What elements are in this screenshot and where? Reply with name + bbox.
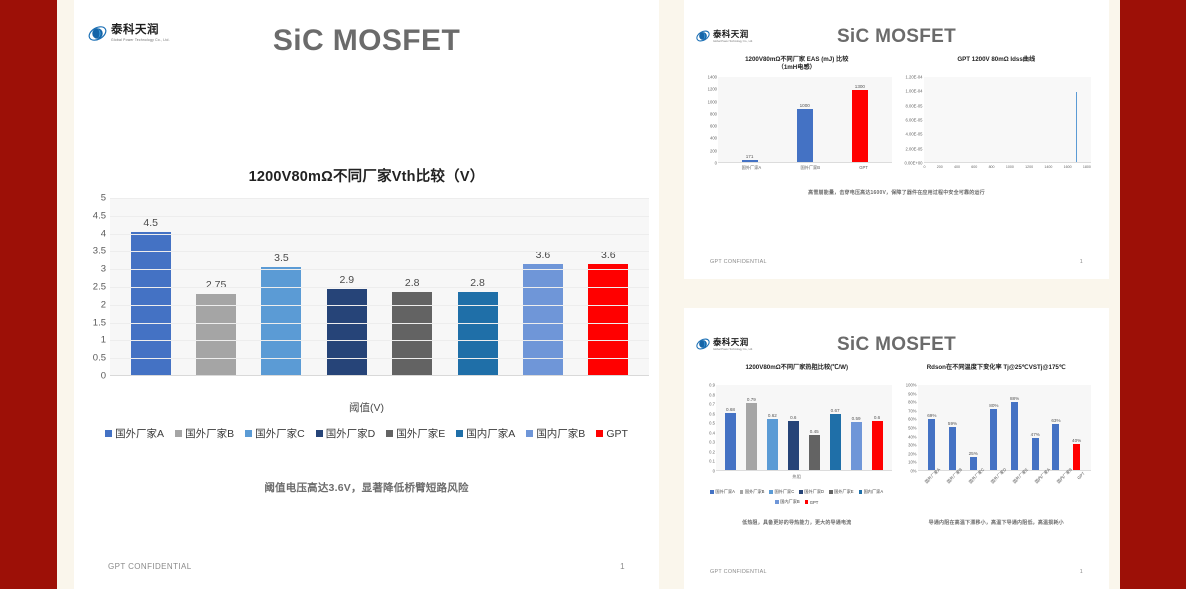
bar <box>1052 424 1059 470</box>
legend-item: 国内厂家B <box>526 426 585 441</box>
gridline <box>110 305 649 306</box>
footer-page-number: 1 <box>1080 569 1083 575</box>
y-axis-tick: 100% <box>906 383 917 388</box>
y-axis: 1400120010008006004002000 <box>702 77 717 163</box>
chart-title: Rdson在不同温度下变化率 Tj@25℃VSTj@175℃ <box>902 364 1092 381</box>
legend-item: 国外厂家D <box>799 489 824 495</box>
y-axis-tick: 0.7 <box>709 402 715 407</box>
legend-label: 国外厂家E <box>396 426 445 441</box>
bar-item: 1000 <box>792 77 818 162</box>
slide-title: SiC MOSFET <box>684 334 1109 356</box>
bar-item: 63% <box>1047 385 1065 470</box>
y-axis-tick: 2.00E-05 <box>906 146 923 151</box>
slide-footer: GPT CONFIDENTIAL 1 <box>684 259 1109 265</box>
y-axis-tick: 2 <box>101 299 106 310</box>
legend-label: 国内厂家A <box>864 489 884 495</box>
bar-item: 59% <box>944 385 962 470</box>
bar <box>196 294 236 375</box>
y-axis-tick: 10% <box>908 460 916 465</box>
bar-item: 69% <box>923 385 941 470</box>
legend-swatch <box>859 490 863 494</box>
legend-swatch <box>456 430 463 437</box>
slide-footer: GPT CONFIDENTIAL 1 <box>74 562 659 571</box>
legend-label: GPT <box>810 500 819 505</box>
chart-title: GPT 1200V 80mΩ Idss曲线 <box>902 56 1092 73</box>
legend-swatch <box>710 490 714 494</box>
bar <box>949 427 956 470</box>
y-axis-tick: 0 <box>713 469 715 474</box>
x-axis-label: 阈值(V) <box>74 400 659 415</box>
bar <box>327 289 367 375</box>
gridline <box>110 198 649 199</box>
footer-confidential: GPT CONFIDENTIAL <box>108 562 192 571</box>
bar-item: 0.62 <box>764 385 780 470</box>
y-axis-tick: 0.6 <box>709 411 715 416</box>
bar-item: 0.67 <box>827 385 843 470</box>
slide-caption: 阈值电压高达3.6V，显著降低桥臂短路风险 <box>74 480 659 495</box>
x-axis-tick: 400 <box>954 165 960 169</box>
slide-caption: 高雪崩能量，击穿电压高达1600V，保障了器件在应用过程中安全可靠的运行 <box>684 189 1109 196</box>
slide-thumbnail-2[interactable]: 泰科天润 Global Power Technology Co., Ltd. S… <box>684 308 1109 589</box>
y-axis-tick: 200 <box>710 148 717 153</box>
x-axis-tick: 800 <box>989 165 995 169</box>
y-axis-tick: 0.3 <box>709 440 715 445</box>
y-axis-tick: 0.9 <box>709 383 715 388</box>
gridline <box>110 234 649 235</box>
bar-value-label: 0.68 <box>726 407 735 412</box>
bar-value-label: 69% <box>927 413 936 418</box>
bar <box>797 109 813 162</box>
bar-value-label: 3.5 <box>274 252 289 264</box>
chart-column-right: GPT 1200V 80mΩ Idss曲线 1.20E-041.00E-048.… <box>902 56 1092 171</box>
gridline <box>110 358 649 359</box>
chart-column-left: 1200V80mΩ不同厂家 EAS (mJ) 比较 （1mH电感） 140012… <box>702 56 892 171</box>
bar-item: 0.79 <box>743 385 759 470</box>
y-axis-tick: 0.4 <box>709 430 715 435</box>
plot-area: 17110001300 <box>718 77 892 163</box>
bar <box>990 409 997 470</box>
legend-item: 国外厂家A <box>105 426 164 441</box>
bar-value-label: 0.6 <box>790 415 796 420</box>
y-axis-tick: 1 <box>101 335 106 346</box>
y-axis-tick: 400 <box>710 136 717 141</box>
y-axis: 100%90%80%70%60%50%40%30%20%10%0% <box>901 385 917 471</box>
y-axis-tick: 4.5 <box>93 210 106 221</box>
bar-value-label: 88% <box>1010 396 1019 401</box>
bar <box>928 419 935 470</box>
legend-item: 国外厂家A <box>710 489 735 495</box>
legend-item: 国外厂家E <box>386 426 445 441</box>
presentation-viewer: 泰科天润 Global Power Technology Co., Ltd. S… <box>0 0 1186 589</box>
bar-value-label: 0.62 <box>768 413 777 418</box>
y-axis-tick: 1.5 <box>93 317 106 328</box>
gridline <box>110 340 649 341</box>
slide-header: 泰科天润 Global Power Technology Co., Ltd. S… <box>684 0 1109 48</box>
y-axis-tick: 60% <box>908 417 916 422</box>
legend-swatch <box>829 490 833 494</box>
gridline <box>110 251 649 252</box>
chart-columns: 1200V80mΩ不同厂家 EAS (mJ) 比较 （1mH电感） 140012… <box>684 48 1109 171</box>
bar-item: 171 <box>737 77 763 162</box>
legend-label: 国外厂家D <box>804 489 824 495</box>
legend-label: 国外厂家A <box>115 426 164 441</box>
bar-value-label: 80% <box>989 403 998 408</box>
plot-area: 69%59%25%80%88%47%63%40% <box>918 385 1092 471</box>
y-axis-tick: 0 <box>715 161 717 166</box>
gridline <box>110 216 649 217</box>
bar-value-label: 40% <box>1072 438 1081 443</box>
slide-header: 泰科天润 Global Power Technology Co., Ltd. S… <box>684 308 1109 356</box>
bar <box>131 232 171 375</box>
y-axis: 54.543.532.521.510.50 <box>74 198 106 376</box>
legend-label: 国外厂家D <box>326 426 376 441</box>
y-axis-tick: 3.5 <box>93 246 106 257</box>
bar <box>872 421 883 470</box>
x-axis-tick: 600 <box>971 165 977 169</box>
x-axis-tick: 1200 <box>1025 165 1033 169</box>
bar-value-label: 2.9 <box>340 274 355 286</box>
legend-swatch <box>245 430 252 437</box>
chart-title: 1200V80mΩ不同厂家Vth比较（V） <box>74 165 659 186</box>
bar-value-label: 2.75 <box>206 279 226 291</box>
x-axis-tick: 国外厂家A <box>742 165 762 171</box>
bar <box>1032 438 1039 470</box>
legend-item: 国内厂家A <box>456 426 515 441</box>
y-axis-tick: 30% <box>908 443 916 448</box>
x-axis-tick: 国外厂家B <box>800 165 820 171</box>
bar-item: 80% <box>985 385 1003 470</box>
x-axis-label: 热阻 <box>702 474 892 480</box>
slide-thumbnail-1[interactable]: 泰科天润 Global Power Technology Co., Ltd. S… <box>684 0 1109 279</box>
slide-title: SiC MOSFET <box>684 26 1109 48</box>
y-axis-tick: 3 <box>101 264 106 275</box>
y-axis-tick: 2.5 <box>93 282 106 293</box>
y-axis-tick: 80% <box>908 400 916 405</box>
y-axis-tick: 0.2 <box>709 449 715 454</box>
x-axis-tick: 1800 <box>1083 165 1091 169</box>
legend-label: 国内厂家B <box>536 426 585 441</box>
x-axis-tick: GPT <box>859 165 868 171</box>
bar-value-label: 25% <box>969 451 978 456</box>
bar-item: 47% <box>1026 385 1044 470</box>
legend-item: 国内厂家B <box>775 499 800 505</box>
bar-value-label: 0.79 <box>747 397 756 402</box>
legend-swatch <box>805 500 809 504</box>
y-axis-tick: 0.00E+00 <box>904 161 922 166</box>
legend-swatch <box>596 430 603 437</box>
legend-label: 国外厂家B <box>185 426 234 441</box>
legend-item: 国外厂家C <box>769 489 794 495</box>
legend-swatch <box>526 430 533 437</box>
bar <box>1073 444 1080 470</box>
bar-item: 0.6 <box>869 385 885 470</box>
legend-swatch <box>175 430 182 437</box>
bar-value-label: 1300 <box>855 84 865 89</box>
y-axis-tick: 40% <box>908 434 916 439</box>
y-axis-tick: 90% <box>908 391 916 396</box>
y-axis-tick: 6.00E-05 <box>906 118 923 123</box>
y-axis-tick: 600 <box>710 124 717 129</box>
y-axis-tick: 4.00E-05 <box>906 132 923 137</box>
y-axis-tick: 1400 <box>708 75 717 80</box>
y-axis-tick: 1.00E-04 <box>906 89 923 94</box>
chart-title-line2: （1mH电感） <box>702 64 892 72</box>
bar-value-label: 47% <box>1031 432 1040 437</box>
legend-item: 国外厂家D <box>316 426 376 441</box>
bar <box>746 403 757 470</box>
chart-title: 1200V80mΩ不同厂家热阻比较(℃/W) <box>702 364 892 381</box>
y-axis-tick: 0.5 <box>93 353 106 364</box>
y-axis-tick: 4 <box>101 228 106 239</box>
bar <box>742 160 758 163</box>
chart-column-right: Rdson在不同温度下变化率 Tj@25℃VSTj@175℃ 100%90%80… <box>902 364 1092 505</box>
x-axis-labels: 020040060080010001200140016001800 <box>924 165 1092 169</box>
bar <box>809 435 820 470</box>
y-axis-tick: 800 <box>710 111 717 116</box>
legend-swatch <box>775 500 779 504</box>
footer-confidential: GPT CONFIDENTIAL <box>710 259 767 265</box>
bar <box>851 422 862 470</box>
bar-item: 25% <box>964 385 982 470</box>
chart-column-left: 1200V80mΩ不同厂家热阻比较(℃/W) 0.90.80.70.60.50.… <box>702 364 892 505</box>
bar-item: 1300 <box>847 77 873 162</box>
footer-page-number: 1 <box>1080 259 1083 265</box>
bar-value-label: 1000 <box>800 103 810 108</box>
legend-label: 国外厂家A <box>715 489 735 495</box>
footer-confidential: GPT CONFIDENTIAL <box>710 569 767 575</box>
x-axis-tick: 1600 <box>1064 165 1072 169</box>
legend-item: GPT <box>596 428 628 440</box>
bar <box>788 421 799 470</box>
y-axis: 1.20E-041.00E-048.00E-056.00E-054.00E-05… <box>902 77 923 163</box>
y-axis-tick: 1200 <box>708 87 717 92</box>
bar-value-label: 171 <box>746 154 754 159</box>
y-axis-tick: 0.8 <box>709 392 715 397</box>
bar-value-label: 0.6 <box>874 415 880 420</box>
x-axis-tick: 1000 <box>1006 165 1014 169</box>
chart-columns: 1200V80mΩ不同厂家热阻比较(℃/W) 0.90.80.70.60.50.… <box>684 356 1109 505</box>
bar <box>830 414 841 470</box>
slide-title: SiC MOSFET <box>74 24 659 58</box>
plot-area: 4.52.753.52.92.82.83.63.6 <box>110 198 649 376</box>
y-axis-tick: 1000 <box>708 99 717 104</box>
legend-label: 国外厂家E <box>834 489 854 495</box>
legend-item: 国外厂家B <box>740 489 765 495</box>
y-axis-tick: 8.00E-05 <box>906 103 923 108</box>
y-axis-tick: 0.1 <box>709 459 715 464</box>
y-axis-tick: 70% <box>908 408 916 413</box>
y-axis: 0.90.80.70.60.50.40.30.20.10 <box>700 385 715 471</box>
bar-item: 40% <box>1068 385 1086 470</box>
captions-row: 低热阻，具备更好的导热能力，更大的导通电流 导通内阻在高温下漂移小，高温下导通内… <box>684 519 1109 526</box>
bar <box>1011 402 1018 470</box>
chart-area: 54.543.532.521.510.50 4.52.753.52.92.82.… <box>74 198 659 393</box>
bar-item: 0.59 <box>848 385 864 470</box>
legend-item: 国外厂家E <box>829 489 854 495</box>
x-axis-tick: 0 <box>924 165 926 169</box>
legend-label: 国外厂家B <box>745 489 765 495</box>
legend-swatch <box>740 490 744 494</box>
bar <box>725 413 736 470</box>
legend-item: 国外厂家C <box>245 426 305 441</box>
legend-item: 国内厂家A <box>859 489 884 495</box>
y-axis-tick: 0.5 <box>709 421 715 426</box>
y-axis-tick: 0 <box>101 371 106 382</box>
bar <box>970 457 977 471</box>
bar-value-label: 0.59 <box>852 416 861 421</box>
bar-item: 0.45 <box>806 385 822 470</box>
legend-swatch <box>769 490 773 494</box>
bar-item: 88% <box>1006 385 1024 470</box>
chart-title: 1200V80mΩ不同厂家 EAS (mJ) 比较 （1mH电感） <box>702 56 892 73</box>
bar-value-label: 0.67 <box>831 408 840 413</box>
plot-area: 0.680.790.620.60.450.670.590.6 <box>716 385 892 471</box>
bar-value-label: 0.45 <box>810 429 819 434</box>
slide-footer: GPT CONFIDENTIAL 1 <box>684 569 1109 575</box>
legend-label: GPT <box>606 428 628 440</box>
footer-page-number: 1 <box>620 562 625 571</box>
x-axis-tick: 1400 <box>1044 165 1052 169</box>
legend-swatch <box>105 430 112 437</box>
plot-area <box>924 77 1092 163</box>
chart-legend: 国外厂家A国外厂家B国外厂家C国外厂家D国外厂家E国内厂家A国内厂家BGPT <box>702 489 892 505</box>
y-axis-tick: 1.20E-04 <box>906 75 923 80</box>
legend-swatch <box>799 490 803 494</box>
bar-value-label: 4.5 <box>143 217 158 229</box>
x-axis-labels: 国外厂家A国外厂家BGPT <box>718 165 892 171</box>
legend-swatch <box>386 430 393 437</box>
slide-caption-right: 导通内阻在高温下漂移小，高温下导通内阻低，高温损耗小 <box>902 519 1092 526</box>
slide-caption-left: 低热阻，具备更好的导热能力，更大的导通电流 <box>702 519 892 526</box>
gridline <box>110 323 649 324</box>
legend-item: GPT <box>805 499 819 505</box>
gridline <box>110 287 649 288</box>
bar-value-label: 59% <box>948 421 957 426</box>
bar <box>767 419 778 470</box>
x-axis-labels: 国外厂家A国外厂家B国外厂家C国外厂家D国外厂家E国内厂家A国内厂家BGPT <box>918 473 1092 479</box>
chart-legend: 国外厂家A国外厂家B国外厂家C国外厂家D国外厂家E国内厂家A国内厂家BGPT <box>74 426 659 441</box>
legend-item: 国外厂家B <box>175 426 234 441</box>
gridline <box>110 269 649 270</box>
y-axis-tick: 20% <box>908 451 916 456</box>
bar-item: 0.6 <box>785 385 801 470</box>
y-axis-tick: 0% <box>910 469 916 474</box>
bar <box>852 90 868 162</box>
y-axis-tick: 5 <box>101 193 106 204</box>
legend-label: 国内厂家A <box>466 426 515 441</box>
x-axis-tick: 200 <box>937 165 943 169</box>
legend-label: 国外厂家C <box>774 489 794 495</box>
legend-label: 国外厂家C <box>255 426 305 441</box>
bar-value-label: 63% <box>1051 418 1060 423</box>
legend-label: 国内厂家B <box>780 499 800 505</box>
y-axis-tick: 50% <box>908 426 916 431</box>
x-axis-tick: GPT <box>1076 471 1086 481</box>
idss-spike <box>1076 92 1077 162</box>
legend-swatch <box>316 430 323 437</box>
bar-item: 0.68 <box>722 385 738 470</box>
slide-main[interactable]: 泰科天润 Global Power Technology Co., Ltd. S… <box>74 0 659 589</box>
slide-header: 泰科天润 Global Power Technology Co., Ltd. S… <box>74 0 659 92</box>
